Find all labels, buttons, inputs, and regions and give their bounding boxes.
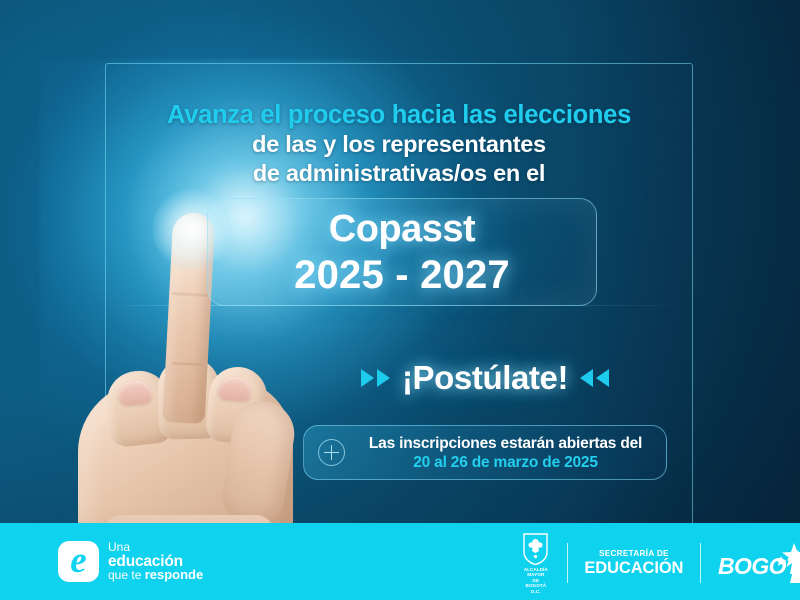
education-logo-line-2: educación — [108, 555, 203, 569]
secretaria-educacion-logo: SECRETARÍA DE EDUCACIÓN — [567, 535, 700, 591]
registration-line-1: Las inscripciones estarán abiertas del — [355, 434, 656, 453]
bogota-coat-of-arms-icon — [522, 532, 549, 565]
footer-bar: e Una educación que te responde — [0, 523, 800, 600]
star-a-icon — [764, 540, 800, 589]
education-logo: e Una educación que te responde — [58, 541, 203, 583]
alcaldia-logo: ALCALDÍA MAYOR DE BOGOTÁ D.C. — [505, 535, 567, 591]
double-triangle-left-icon — [580, 369, 609, 387]
bogota-logo: BOGOT — [701, 535, 800, 591]
headline-line-3: de administrativas/os en el — [105, 159, 693, 188]
copasst-highlight-box: Copasst 2025 - 2027 — [207, 198, 597, 306]
registration-line-2: 20 al 26 de marzo de 2025 — [355, 453, 656, 472]
alcaldia-caption: ALCALDÍA MAYOR DE BOGOTÁ D.C. — [522, 567, 550, 594]
e-logo-icon: e — [58, 541, 99, 582]
secretaria-line-2: EDUCACIÓN — [584, 560, 683, 577]
headline-line-2: de las y los representantes — [105, 130, 693, 159]
secretaria-line-1: SECRETARÍA DE — [584, 550, 683, 558]
headline-block: Avanza el proceso hacia las elecciones d… — [105, 100, 693, 188]
registration-banner: Las inscripciones estarán abiertas del 2… — [303, 425, 667, 480]
headline-line-1: Avanza el proceso hacia las elecciones — [105, 100, 693, 130]
call-to-action-row: ¡Postúlate! — [303, 355, 667, 401]
education-logo-text: Una educación que te responde — [108, 541, 203, 583]
copasst-years: 2025 - 2027 — [208, 253, 596, 298]
double-triangle-right-icon — [361, 369, 390, 387]
plus-circle-icon — [318, 439, 345, 466]
institutional-logos: ALCALDÍA MAYOR DE BOGOTÁ D.C. SECRETARÍA… — [505, 535, 800, 591]
education-logo-line-3: que te responde — [108, 568, 203, 583]
poster-canvas: Avanza el proceso hacia las elecciones d… — [0, 0, 800, 600]
registration-text-block: Las inscripciones estarán abiertas del 2… — [355, 434, 666, 472]
call-to-action-text: ¡Postúlate! — [402, 359, 568, 397]
copasst-title: Copasst — [208, 208, 596, 251]
